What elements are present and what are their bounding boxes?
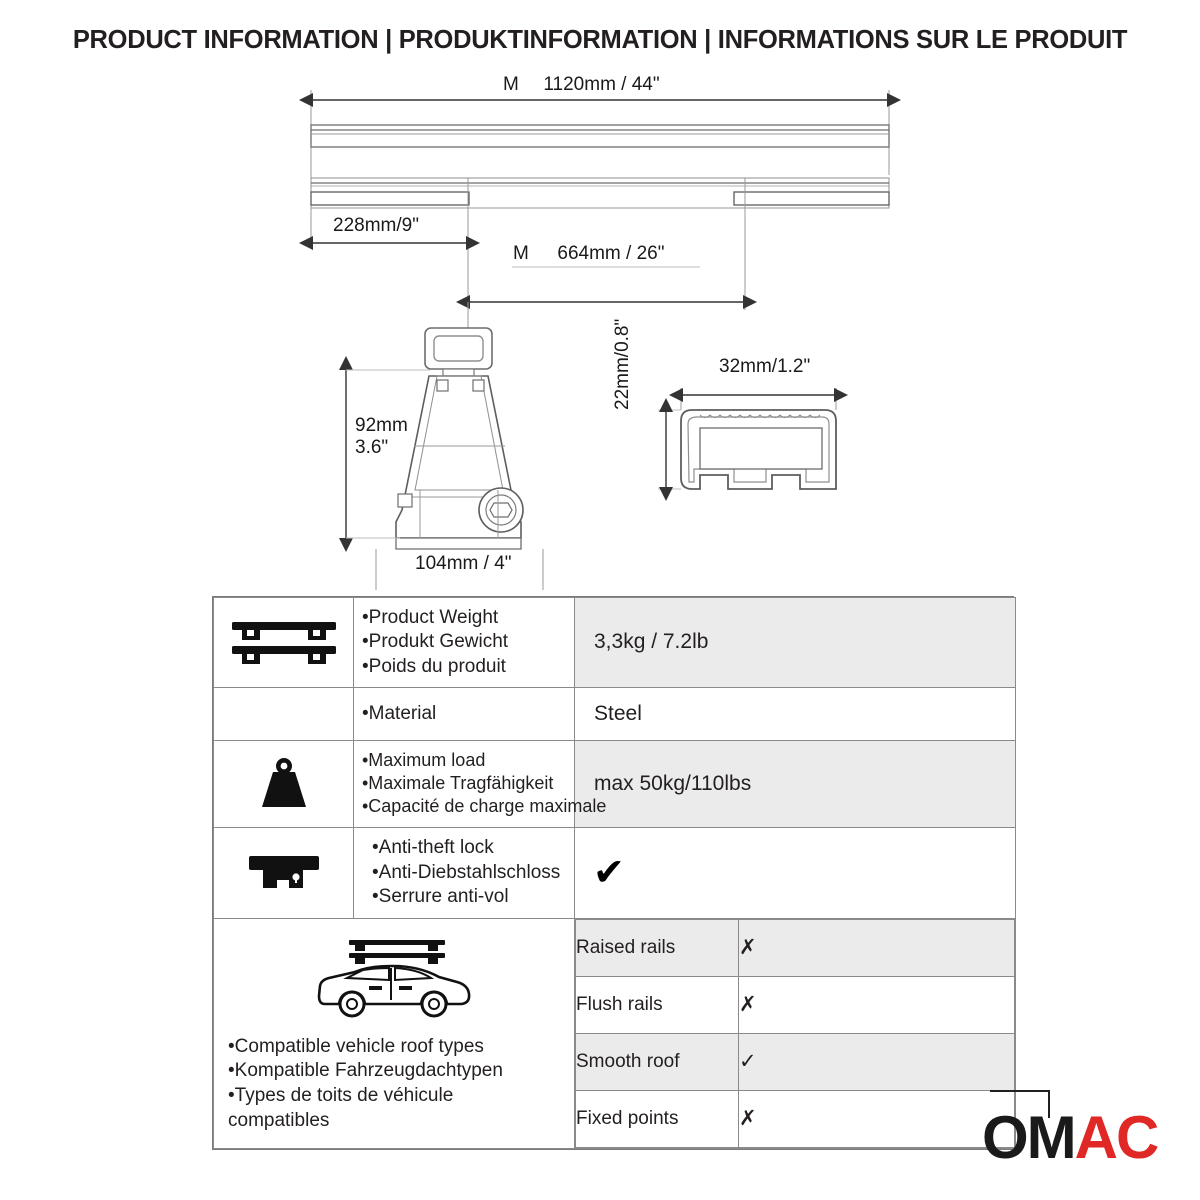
label-line: •Material: [362, 702, 570, 726]
label-line: compatibles: [228, 1109, 574, 1134]
dimension-bar-length: M 1120mm / 44": [503, 74, 660, 96]
label-line: •Anti-theft lock: [372, 836, 570, 860]
roof-type-mark: ✗: [739, 976, 1015, 1033]
technical-drawing: M 1120mm / 44" 228mm/9" M 664mm / 26" 92…: [0, 70, 1200, 590]
material-value: Steel: [575, 702, 1015, 726]
row-label: •Maximum load •Maximale Tragfähigkeit •C…: [354, 740, 575, 827]
row-value: 3,3kg / 7.2lb: [575, 598, 1016, 688]
row-label: •Material: [354, 687, 575, 740]
dimension-foot-spacing: M 664mm / 26": [513, 243, 664, 265]
roof-type-name: Smooth roof: [576, 1033, 739, 1090]
anti-theft-check-mark: ✔: [575, 854, 1015, 892]
roof-type-row: Smooth roof ✓: [576, 1033, 1015, 1090]
dimension-profile-height: 22mm/0.8": [612, 319, 634, 410]
row-value: ✔: [575, 827, 1016, 918]
roof-types-cell: Raised rails ✗ Flush rails ✗ Smooth roof…: [575, 918, 1016, 1148]
label-line: •Maximum load: [362, 749, 570, 772]
label-line: •Anti-Diebstahlschloss: [372, 861, 570, 885]
weight-icon: [214, 740, 354, 827]
roof-type-row: Raised rails ✗: [576, 919, 1015, 976]
compatibility-label-cell: •Compatible vehicle roof types •Kompatib…: [214, 918, 575, 1148]
table-row: •Product Weight •Produkt Gewicht •Poids …: [214, 598, 1016, 688]
specification-table: •Product Weight •Produkt Gewicht •Poids …: [212, 596, 1014, 1150]
dimension-foot-height: 92mm 3.6": [355, 415, 408, 460]
product-weight-value: 3,3kg / 7.2lb: [575, 630, 1015, 654]
dimension-profile-width: 32mm/1.2": [719, 356, 810, 378]
page-title: PRODUCT INFORMATION | PRODUKTINFORMATION…: [0, 26, 1200, 55]
row-value: Steel: [575, 687, 1016, 740]
roof-types-table: Raised rails ✗ Flush rails ✗ Smooth roof…: [575, 919, 1015, 1148]
label-line: •Capacité de charge maximale: [362, 795, 570, 818]
row-label: •Product Weight •Produkt Gewicht •Poids …: [354, 598, 575, 688]
table-row: •Anti-theft lock •Anti-Diebstahlschloss …: [214, 827, 1016, 918]
label-line: •Product Weight: [362, 606, 570, 630]
label-line: •Serrure anti-vol: [372, 885, 570, 909]
roof-type-name: Fixed points: [576, 1090, 739, 1147]
empty-icon-cell: [214, 687, 354, 740]
table-row-compatibility: •Compatible vehicle roof types •Kompatib…: [214, 918, 1016, 1148]
omac-logo: OMAC: [982, 1090, 1192, 1182]
dimension-value: 664mm / 26": [557, 243, 664, 264]
row-label: •Anti-theft lock •Anti-Diebstahlschloss …: [354, 827, 575, 918]
roof-type-mark: ✗: [739, 919, 1015, 976]
dimension-prefix: M: [513, 243, 529, 264]
dimension-foot-width: 104mm / 4": [415, 553, 512, 575]
label-line: •Maximale Tragfähigkeit: [362, 772, 570, 795]
roof-type-mark: ✗: [739, 1090, 1015, 1147]
logo-wordmark: OMAC: [982, 1108, 1157, 1168]
label-line: •Produkt Gewicht: [362, 630, 570, 654]
label-line: •Compatible vehicle roof types: [228, 1035, 574, 1060]
label-line: •Types de toits de véhicule: [228, 1084, 574, 1109]
lock-icon: [214, 827, 354, 918]
dimension-value: 1120mm / 44": [543, 74, 659, 95]
max-load-value: max 50kg/110lbs: [575, 772, 1015, 796]
label-line: •Poids du produit: [362, 655, 570, 679]
logo-text-ac: AC: [1075, 1104, 1158, 1171]
roof-type-mark: ✓: [739, 1033, 1015, 1090]
table-row: •Maximum load •Maximale Tragfähigkeit •C…: [214, 740, 1016, 827]
roof-type-name: Raised rails: [576, 919, 739, 976]
roof-type-row: Fixed points ✗: [576, 1090, 1015, 1147]
crossbars-icon: [214, 598, 354, 688]
dimension-foot-offset: 228mm/9": [333, 215, 419, 237]
car-with-rack-icon: [214, 934, 574, 1025]
roof-type-name: Flush rails: [576, 976, 739, 1033]
dimension-prefix: M: [503, 74, 519, 95]
label-line: •Kompatible Fahrzeugdachtypen: [228, 1059, 574, 1084]
row-value: max 50kg/110lbs: [575, 740, 1016, 827]
logo-text-om: OM: [982, 1104, 1075, 1171]
roof-type-row: Flush rails ✗: [576, 976, 1015, 1033]
table-row: •Material Steel: [214, 687, 1016, 740]
